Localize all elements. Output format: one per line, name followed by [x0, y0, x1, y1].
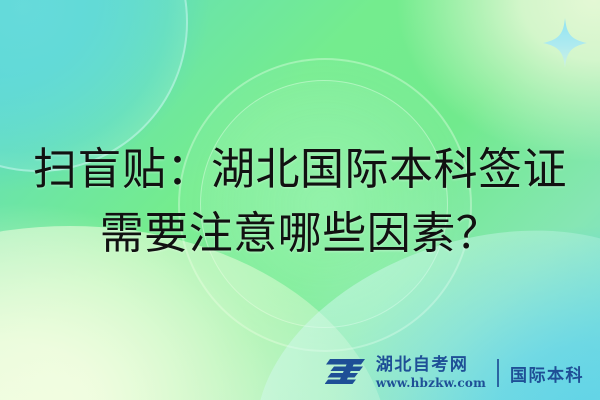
banner-title: 扫盲贴：湖北国际本科签证 需要注意哪些因素？: [0, 138, 600, 266]
brand-name: 湖北自考网: [376, 357, 469, 374]
brand-url: www.hbzkw.com: [376, 377, 486, 389]
title-line-2: 需要注意哪些因素？: [0, 202, 600, 266]
brand-text-block: 湖北自考网 www.hbzkw.com: [376, 357, 486, 389]
promo-banner: 扫盲贴：湖北国际本科签证 需要注意哪些因素？ 湖北自考网 www.hbzkw.c…: [0, 0, 600, 400]
brand-watermark: 湖北自考网 www.hbzkw.com 国际本科: [325, 355, 584, 391]
title-line-1: 扫盲贴：湖北国际本科签证: [0, 138, 600, 202]
four-point-star-icon: [543, 18, 587, 68]
hbzkw-z-mark-icon: [325, 355, 367, 391]
brand-sub-label: 国际本科: [510, 361, 584, 386]
brand-divider: [497, 359, 499, 387]
